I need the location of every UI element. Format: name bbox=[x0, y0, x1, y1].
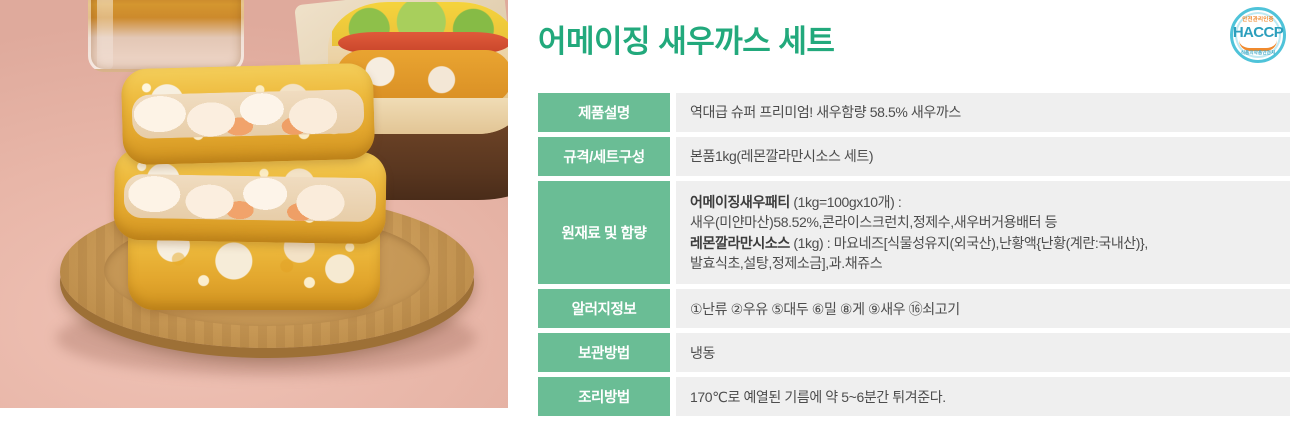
spec-value-spec-set: 본품1kg(레몬깔라만시소스 세트) bbox=[670, 137, 1290, 176]
ingredient-line: 발효식초,설탕,정제소금],과.채쥬스 bbox=[690, 253, 1290, 273]
spec-label-spec-set: 규격/세트구성 bbox=[538, 137, 670, 176]
haccp-main-text: HACCP bbox=[1228, 24, 1288, 41]
spec-label-description: 제품설명 bbox=[538, 93, 670, 132]
spec-label-allergen: 알러지정보 bbox=[538, 289, 670, 328]
iced-tea-glass bbox=[88, 0, 244, 72]
ingredient-line: 어메이징새우패티 (1kg=100gx10개) : bbox=[690, 192, 1290, 212]
table-row: 보관방법 냉동 bbox=[538, 333, 1290, 372]
table-row: 알러지정보 ①난류 ②우유 ⑤대두 ⑥밀 ⑧게 ⑨새우 ⑯쇠고기 bbox=[538, 289, 1290, 328]
ingredient-text: (1kg) : 마요네즈[식물성유지(외국산),난황액{난황(계란:국내산)}, bbox=[790, 235, 1148, 251]
product-spec-table: 제품설명 역대급 슈퍼 프리미엄! 새우함량 58.5% 새우까스 규격/세트구… bbox=[538, 88, 1290, 421]
spec-value-storage: 냉동 bbox=[670, 333, 1290, 372]
haccp-icon: 안전관리인증 HACCP 식품의약품안전처 bbox=[1228, 5, 1288, 65]
spec-value-cooking: 170℃로 예열된 기름에 약 5~6분간 튀겨준다. bbox=[670, 377, 1290, 416]
table-row: 원재료 및 함량 어메이징새우패티 (1kg=100gx10개) : 새우(미얀… bbox=[538, 181, 1290, 284]
spec-value-ingredients: 어메이징새우패티 (1kg=100gx10개) : 새우(미얀마산)58.52%… bbox=[670, 181, 1290, 284]
spec-value-description: 역대급 슈퍼 프리미엄! 새우함량 58.5% 새우까스 bbox=[670, 93, 1290, 132]
shrimp-cross-section bbox=[124, 174, 377, 222]
ingredient-line: 새우(미얀마산)58.52%,콘라이스크런치,정제수,새우버거용배터 등 bbox=[690, 212, 1290, 232]
shrimp-cutlet-top bbox=[121, 63, 375, 166]
ingredient-line: 레몬깔라만시소스 (1kg) : 마요네즈[식물성유지(외국산),난황액{난황(… bbox=[690, 233, 1290, 253]
page-title: 어메이징 새우까스 세트 bbox=[538, 16, 834, 61]
haccp-top-text: 안전관리인증 bbox=[1228, 15, 1288, 23]
haccp-bottom-text: 식품의약품안전처 bbox=[1228, 50, 1288, 56]
ingredient-text: 발효식초,설탕,정제소금],과.채쥬스 bbox=[690, 255, 882, 271]
table-row: 규격/세트구성 본품1kg(레몬깔라만시소스 세트) bbox=[538, 137, 1290, 176]
ingredient-text: 새우(미얀마산)58.52%,콘라이스크런치,정제수,새우버거용배터 등 bbox=[690, 214, 1057, 230]
ingredient-title: 레몬깔라만시소스 bbox=[690, 235, 790, 251]
product-photo bbox=[0, 0, 508, 408]
shrimp-cross-section bbox=[131, 89, 364, 139]
spec-label-storage: 보관방법 bbox=[538, 333, 670, 372]
spec-value-allergen: ①난류 ②우유 ⑤대두 ⑥밀 ⑧게 ⑨새우 ⑯쇠고기 bbox=[670, 289, 1290, 328]
product-detail-page: 어메이징 새우까스 세트 안전관리인증 HACCP 식품의약품안전처 제품설명 … bbox=[0, 0, 1300, 408]
product-info-panel: 어메이징 새우까스 세트 안전관리인증 HACCP 식품의약품안전처 제품설명 … bbox=[508, 0, 1300, 408]
spec-label-ingredients: 원재료 및 함량 bbox=[538, 181, 670, 284]
ingredient-text: (1kg=100gx10개) : bbox=[790, 194, 902, 210]
spec-label-cooking: 조리방법 bbox=[538, 377, 670, 416]
ingredient-title: 어메이징새우패티 bbox=[690, 194, 790, 210]
table-row: 조리방법 170℃로 예열된 기름에 약 5~6분간 튀겨준다. bbox=[538, 377, 1290, 416]
table-row: 제품설명 역대급 슈퍼 프리미엄! 새우함량 58.5% 새우까스 bbox=[538, 93, 1290, 132]
